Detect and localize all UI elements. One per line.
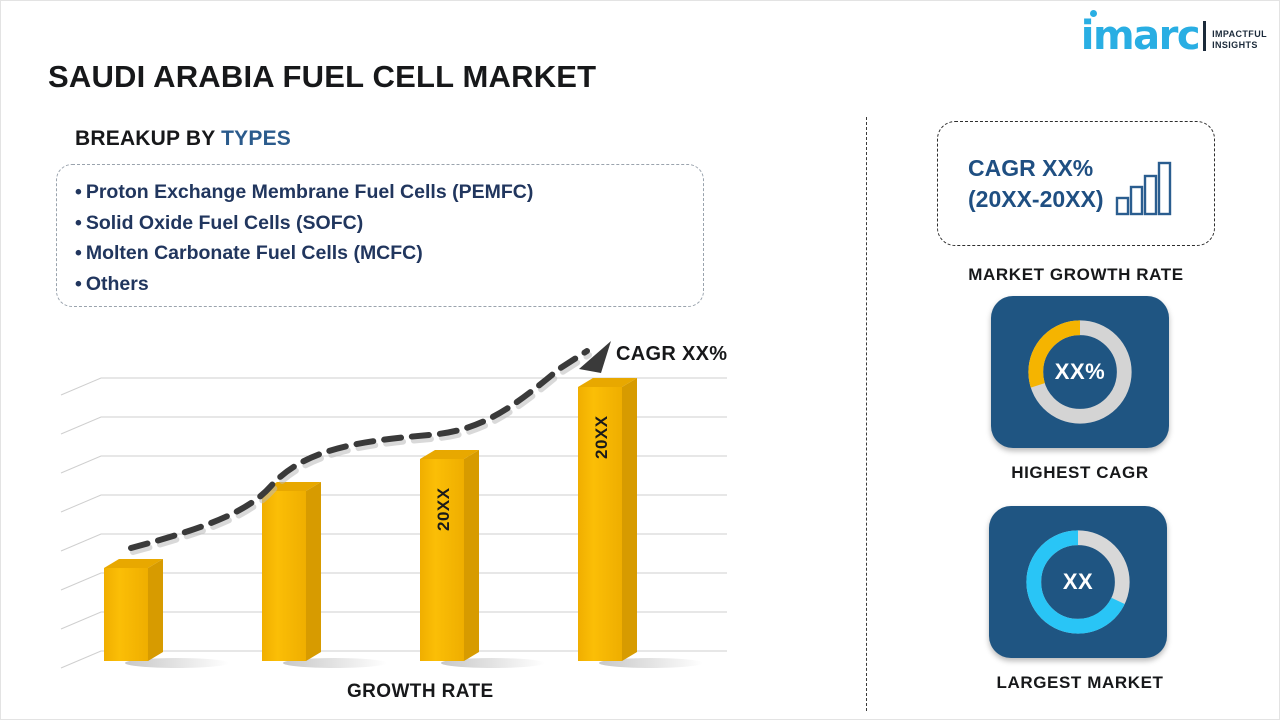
highest-cagr-value: XX% bbox=[1055, 359, 1105, 385]
list-item: •Solid Oxide Fuel Cells (SOFC) bbox=[75, 208, 703, 239]
bar-year-label: 20XX bbox=[434, 487, 454, 531]
logo-tagline-line1: IMPACTFUL bbox=[1212, 29, 1267, 40]
infographic-page: imarc IMPACTFUL INSIGHTS SAUDI ARABIA FU… bbox=[0, 0, 1280, 720]
breakup-heading-accent: TYPES bbox=[221, 127, 291, 150]
logo-dot-icon bbox=[1090, 10, 1097, 17]
cagr-box-text: CAGR XX% (20XX-20XX) bbox=[968, 153, 1104, 215]
bullet-icon: • bbox=[75, 212, 82, 234]
imarc-logo: imarc IMPACTFUL INSIGHTS bbox=[1081, 14, 1267, 54]
logo-wordmark-text: imarc bbox=[1081, 13, 1199, 59]
largest-market-card: XX bbox=[989, 506, 1167, 658]
page-title: SAUDI ARABIA FUEL CELL MARKET bbox=[48, 59, 596, 95]
breakup-heading: BREAKUP BY TYPES bbox=[75, 127, 291, 151]
list-item: •Molten Carbonate Fuel Cells (MCFC) bbox=[75, 238, 703, 269]
breakup-types-box: •Proton Exchange Membrane Fuel Cells (PE… bbox=[56, 164, 704, 307]
logo-wordmark: imarc bbox=[1081, 18, 1199, 54]
largest-market-caption: LARGEST MARKET bbox=[930, 673, 1230, 693]
bar-chart-svg bbox=[59, 331, 759, 676]
bullet-icon: • bbox=[75, 242, 82, 264]
bar-year-label: 20XX bbox=[592, 415, 612, 459]
logo-tagline-line2: INSIGHTS bbox=[1212, 40, 1267, 51]
growth-rate-bar-chart: CAGR XX% 20XX 20XX bbox=[59, 331, 759, 676]
list-item-label: Solid Oxide Fuel Cells (SOFC) bbox=[86, 212, 363, 234]
largest-market-value: XX bbox=[1063, 569, 1093, 595]
breakup-heading-prefix: BREAKUP BY bbox=[75, 127, 221, 150]
highest-cagr-caption: HIGHEST CAGR bbox=[930, 463, 1230, 483]
highest-cagr-card: XX% bbox=[991, 296, 1169, 448]
list-item-label: Proton Exchange Membrane Fuel Cells (PEM… bbox=[86, 181, 534, 203]
list-item-label: Molten Carbonate Fuel Cells (MCFC) bbox=[86, 242, 423, 264]
bullet-icon: • bbox=[75, 273, 82, 295]
bar-chart-icon bbox=[1114, 154, 1176, 216]
cagr-box-line2: (20XX-20XX) bbox=[968, 184, 1104, 215]
chart-bar bbox=[104, 559, 163, 661]
chart-bar bbox=[420, 450, 479, 661]
bullet-icon: • bbox=[75, 181, 82, 203]
chart-axis-label: GROWTH RATE bbox=[347, 681, 494, 703]
chart-cagr-annotation: CAGR XX% bbox=[616, 343, 727, 366]
list-item: •Others bbox=[75, 269, 703, 300]
vertical-divider bbox=[866, 117, 867, 711]
cagr-box-line1: CAGR XX% bbox=[968, 153, 1104, 184]
chart-bar bbox=[262, 482, 321, 661]
list-item-label: Others bbox=[86, 273, 149, 295]
logo-divider bbox=[1203, 21, 1206, 51]
logo-tagline: IMPACTFUL INSIGHTS bbox=[1212, 29, 1267, 54]
list-item: •Proton Exchange Membrane Fuel Cells (PE… bbox=[75, 177, 703, 208]
chart-trend-line bbox=[131, 341, 611, 552]
cagr-box: CAGR XX% (20XX-20XX) bbox=[937, 121, 1215, 246]
market-growth-rate-caption: MARKET GROWTH RATE bbox=[956, 265, 1196, 285]
